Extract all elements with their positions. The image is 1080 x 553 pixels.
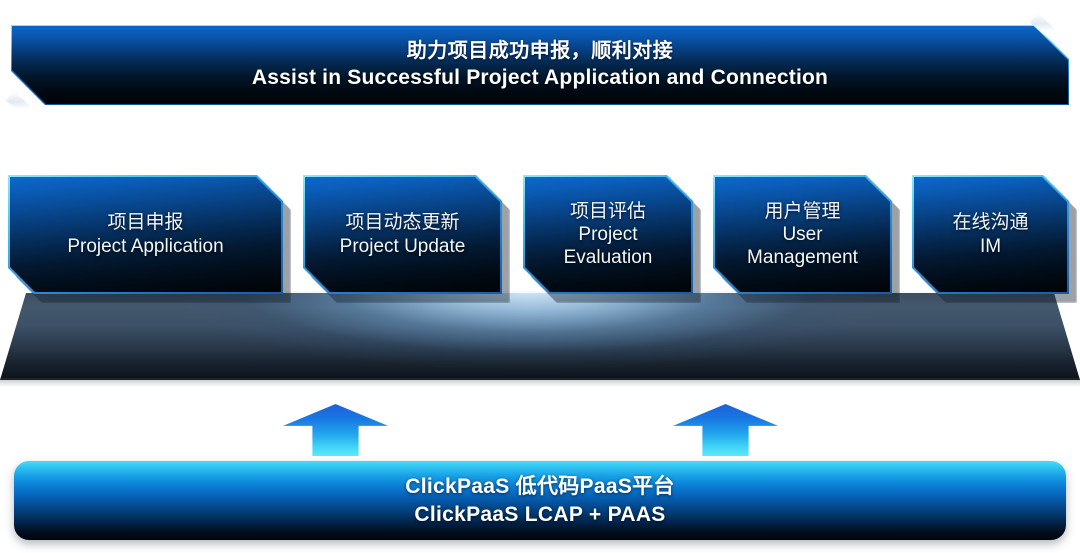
card-label-cn: 项目评估	[564, 200, 653, 223]
card-text: 项目申报Project Application	[57, 211, 233, 257]
card-label-cn: 项目申报	[67, 211, 223, 234]
capability-card-project-evaluation[interactable]: 项目评估ProjectEvaluation	[523, 175, 693, 294]
platform-slab	[0, 293, 1080, 380]
card-text: 在线沟通IM	[942, 211, 1038, 257]
platform-bar-title-cn: ClickPaaS 低代码PaaS平台	[405, 473, 674, 500]
card-label-en: UserManagement	[747, 223, 858, 269]
capability-card-user-management[interactable]: 用户管理UserManagement	[713, 175, 892, 294]
card-label-cn: 项目动态更新	[340, 211, 466, 234]
platform-slab-shadow	[0, 378, 1080, 387]
capability-card-project-application[interactable]: 项目申报Project Application	[8, 175, 283, 294]
header-corner-highlight-bottom-left	[6, 92, 36, 121]
capability-card-project-update[interactable]: 项目动态更新Project Update	[303, 175, 502, 294]
arrow-right-icon	[673, 404, 778, 456]
header-banner: 助力项目成功申报，顺利对接 Assist in Successful Proje…	[12, 26, 1068, 104]
header-title-en: Assist in Successful Project Application…	[252, 64, 828, 91]
arrow-left-icon	[283, 404, 388, 456]
card-label-en: Project Application	[67, 235, 223, 258]
card-text: 项目动态更新Project Update	[330, 211, 476, 257]
capability-diagram: 助力项目成功申报，顺利对接 Assist in Successful Proje…	[0, 0, 1080, 553]
platform-bar: ClickPaaS 低代码PaaS平台 ClickPaaS LCAP + PAA…	[14, 461, 1066, 540]
card-label-cn: 在线沟通	[952, 211, 1028, 234]
card-label-en: IM	[952, 235, 1028, 258]
card-label-en: ProjectEvaluation	[564, 223, 653, 269]
header-title-cn: 助力项目成功申报，顺利对接	[407, 39, 674, 64]
capability-card-online-im[interactable]: 在线沟通IM	[912, 175, 1069, 294]
card-text: 用户管理UserManagement	[737, 200, 868, 270]
card-label-cn: 用户管理	[747, 200, 858, 223]
platform-bar-title-en: ClickPaaS LCAP + PAAS	[414, 501, 665, 528]
card-text: 项目评估ProjectEvaluation	[554, 200, 663, 270]
card-label-en: Project Update	[340, 235, 466, 258]
